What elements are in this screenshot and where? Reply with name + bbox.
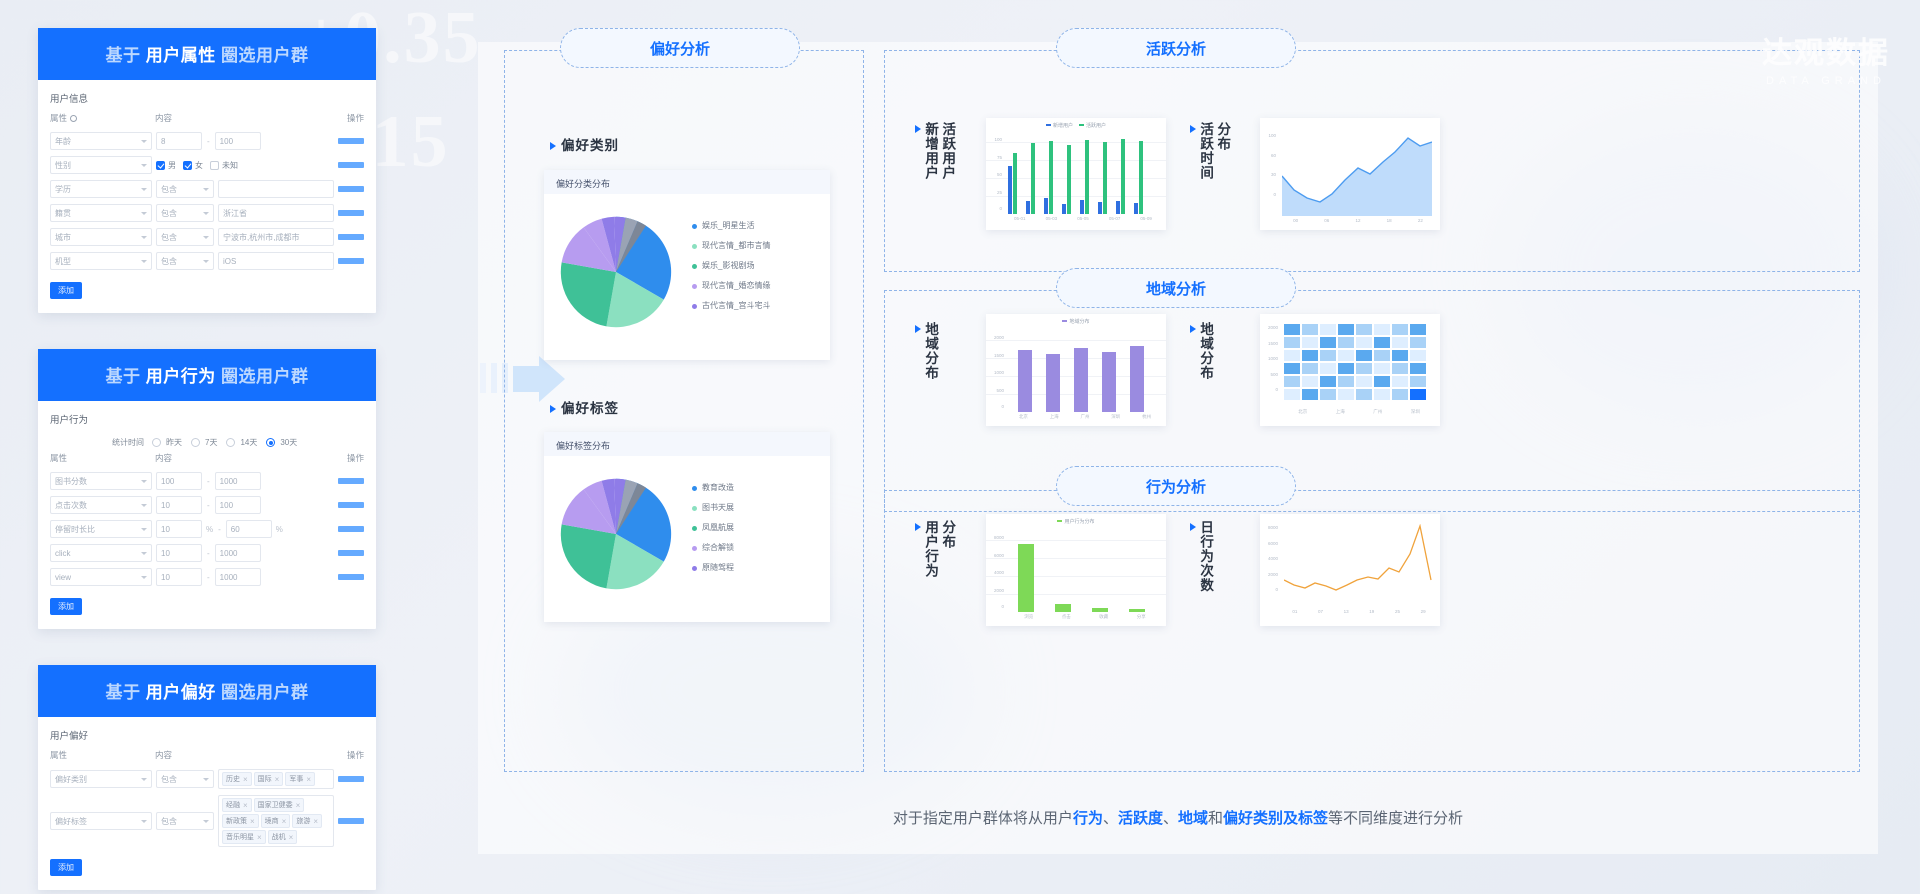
chart-title: 偏好分类分布 [544,170,830,194]
table-row[interactable]: click 10 - 1000 [50,541,364,565]
label-behavior-distribution: 分布 [940,520,955,549]
card-1-title-prefix: 基于 [106,46,141,65]
card-user-behavior: 基于 用户行为 圈选用户群 用户行为 统计时间 昨天 7天 14天 30天 属性… [38,349,376,629]
range-to-input[interactable]: 1000 [215,568,261,586]
triangle-right-icon [1190,523,1196,531]
chart-mini-legend: 地域分布 [986,318,1166,325]
range-to-input[interactable]: 1000 [215,544,261,562]
period-30d-radio[interactable] [266,438,275,447]
chart-card-behavior-bar[interactable]: 用户行为分布 80006000400020000 浏览 点击 收藏 分享 [986,514,1166,626]
attr-select[interactable]: 偏好标签 [50,812,152,830]
row-action-button[interactable] [338,138,364,144]
table-row[interactable]: 学历 包含 [50,177,364,201]
row-action-button[interactable] [338,776,364,782]
gender-female-label: 女 [195,160,203,171]
behavior-analysis-label: 行为分析 [1146,476,1206,497]
region-distribution-label-2[interactable]: 地域分布 [1190,322,1258,380]
stat-period-label: 统计时间 [112,437,144,448]
x-axis-labels: 浏览 点击 收藏 分享 [1010,614,1160,620]
attr-select[interactable]: 籍贯 [50,204,152,222]
bar-chart-behavior [1010,534,1158,612]
region-distribution-label-1[interactable]: 地域分布 [915,322,983,380]
stat-period-row: 统计时间 昨天 7天 14天 30天 [50,433,364,452]
x-axis-labels: 05-01 05-03 05-05 05-07 05-09 [1004,216,1162,221]
table-row[interactable]: 图书分数 100 - 1000 [50,469,364,493]
gender-unknown-label: 未知 [222,160,238,171]
tag-box[interactable]: 经融 国家卫健委 新政策 境商 旅游 音乐明星 战机 [218,795,334,847]
tag-item[interactable]: 战机 [268,830,298,844]
triangle-right-icon [1190,325,1196,333]
pie-chart-2 [556,474,676,594]
row-action-button[interactable] [338,478,364,484]
legend-item: 现代言情_都市言情 [692,236,770,256]
pie-chart-1 [556,212,676,332]
row-action-button[interactable] [338,162,364,168]
analysis-panel: 偏好分析 偏好类别 偏好分类分布 [478,42,1878,854]
card-2-title-suffix: 圈选用户群 [221,367,309,386]
legend-item: 现代言情_婚恋情缘 [692,276,770,296]
card-1-header: 基于 用户属性 圈选用户群 [38,28,376,80]
legend-item: 原随驾程 [692,558,734,578]
preference-tag-label[interactable]: 偏好标签 [550,397,619,417]
left-card-column: 基于 用户属性 圈选用户群 用户信息 属性 内容 操作 年龄 8 - 100 性… [38,28,376,894]
operator-select[interactable]: 包含 [156,770,214,788]
label-distribution: 分布 [1215,122,1230,151]
attr-select[interactable]: click [50,544,152,562]
card-2-header: 基于 用户行为 圈选用户群 [38,349,376,401]
operator-select[interactable]: 包含 [156,180,214,198]
table-row[interactable]: 偏好类别 包含 历史 国际 军事 [50,766,364,792]
card-1-col-op: 操作 [330,112,364,124]
y-axis-labels: 10060300 [1262,134,1276,197]
region-analysis-label: 地域分析 [1146,278,1206,299]
range-to-input[interactable]: 100 [215,132,261,150]
period-30d-label: 30天 [280,437,297,448]
range-from-input[interactable]: 100 [156,472,202,490]
brand-logo: 达观数据 DATA GRAND [1762,28,1890,87]
bar-chart-region [1010,334,1158,412]
preference-analysis-pill[interactable]: 偏好分析 [560,28,800,68]
attr-select[interactable]: 停留时长比 [50,520,152,538]
period-14d-label: 14天 [240,437,257,448]
triangle-right-icon [915,125,921,133]
line-chart-daily-behavior [1284,524,1432,604]
table-row[interactable]: view 10 - 1000 [50,565,364,589]
attr-select[interactable]: 年龄 [50,132,152,150]
row-action-button[interactable] [338,550,364,556]
tag-item[interactable]: 新政策 [222,814,259,828]
tag-item[interactable]: 旅游 [292,814,322,828]
triangle-right-icon [550,142,556,150]
card-2-title-prefix: 基于 [106,367,141,386]
row-action-button[interactable] [338,502,364,508]
preference-category-label[interactable]: 偏好类别 [550,134,619,154]
range-from-input[interactable]: 10 [156,544,202,562]
tag-item[interactable]: 历史 [222,772,252,786]
value-input[interactable] [218,180,334,198]
y-axis-labels: 2000150010005000 [1262,326,1278,393]
card-3-title-suffix: 圈选用户群 [221,683,309,702]
attr-select[interactable]: 性别 [50,156,152,174]
label-new-users: 新增用户 [923,122,938,180]
row-action-button[interactable] [338,818,364,824]
area-chart-active-time [1282,132,1432,216]
legend-item: 教育改造 [692,478,734,498]
chart-card-preference-category[interactable]: 偏好分类分布 娱乐_明星生活 现代言情_都市言情 娱乐_影视剧场 [544,170,830,360]
chart-title: 偏好标签分布 [544,432,830,456]
row-action-button[interactable] [338,210,364,216]
card-1-column-headers: 属性 内容 操作 [50,112,364,129]
table-row[interactable]: 偏好标签 包含 经融 国家卫健委 新政策 境商 旅游 音乐明星 战机 [50,792,364,850]
chart-card-region-bar[interactable]: 地域分布 2000150010005000 北京 上海 广州 深圳 杭州 [986,314,1166,426]
triangle-right-icon [915,325,921,333]
card-1-col-attr: 属性 [50,113,67,123]
row-action-button[interactable] [338,258,364,264]
attr-select[interactable]: view [50,568,152,586]
card-1-title-suffix: 圈选用户群 [221,46,309,65]
label-active-time: 活跃时间 [1198,122,1213,180]
gender-male-checkbox[interactable] [156,161,165,170]
label-active-users: 活跃用户 [940,122,955,180]
card-2-col-content: 内容 [155,452,330,464]
period-14d-radio[interactable] [226,438,235,447]
gender-male-label: 男 [168,160,176,171]
panel-caption: 对于指定用户群体将从用户行为、活跃度、地域和偏好类别及标签等不同维度进行分析 [478,807,1878,828]
bar-chart-new-active [1006,136,1158,214]
tag-item[interactable]: 军事 [285,772,315,786]
value-input[interactable]: iOS [218,252,334,270]
table-row[interactable]: 点击次数 10 - 100 [50,493,364,517]
legend-item: 古代言情_宫斗宅斗 [692,296,770,316]
heatmap-region [1284,324,1432,404]
period-7d-label: 7天 [205,437,217,448]
card-user-attributes: 基于 用户属性 圈选用户群 用户信息 属性 内容 操作 年龄 8 - 100 性… [38,28,376,313]
card-2-col-attr: 属性 [50,452,155,464]
chart-card-new-active-users[interactable]: 新增用户 活跃用户 1007550250 [986,118,1166,230]
tag-item[interactable]: 国家卫健委 [254,798,305,812]
value-input[interactable]: 浙江省 [218,204,334,222]
attr-select[interactable]: 偏好类别 [50,770,152,788]
logo-en: DATA GRAND [1762,75,1890,87]
operator-select[interactable]: 包含 [156,228,214,246]
row-action-button[interactable] [338,574,364,580]
range-to-input[interactable]: 60 [226,520,272,538]
add-row-button[interactable]: 添加 [50,859,82,876]
percent-unit-2: % [276,525,283,534]
label-user-behavior: 用户行为 [923,520,938,578]
x-axis-labels: 北京 上海 广州 深圳 杭州 [1008,414,1162,420]
tag-item[interactable]: 境商 [261,814,291,828]
row-action-button[interactable] [338,234,364,240]
chart-card-active-time[interactable]: 10060300 00 06 12 18 22 [1260,118,1440,230]
range-from-input[interactable]: 10 [156,496,202,514]
card-1-title-emphasis: 用户属性 [146,46,216,65]
table-row[interactable]: 性别 男 女 未知 [50,153,364,177]
gender-unknown-checkbox[interactable] [210,161,219,170]
chart-mini-legend: 新增用户 活跃用户 [986,122,1166,129]
triangle-right-icon [550,405,556,413]
add-row-button[interactable]: 添加 [50,282,82,299]
pie-legend-2: 教育改造 图书天展 凤凰航展 综合解锁 原随驾程 [692,478,734,578]
legend-item: 综合解锁 [692,538,734,558]
card-3-column-headers: 属性 内容 操作 [50,749,364,766]
preference-tag-text: 偏好标签 [561,397,619,417]
attr-select[interactable]: 机型 [50,252,152,270]
card-3-title-emphasis: 用户偏好 [146,683,216,702]
legend-item: 凤凰航展 [692,518,734,538]
period-7d-radio[interactable] [191,438,200,447]
chart-mini-legend: 用户行为分布 [986,518,1166,525]
attr-select[interactable]: 图书分数 [50,472,152,490]
period-yesterday-label: 昨天 [166,437,182,448]
y-axis-labels: 2000150010005000 [988,336,1004,410]
x-axis-labels: 00 06 12 18 22 [1280,218,1436,223]
range-to-input[interactable]: 1000 [215,472,261,490]
card-3-header: 基于 用户偏好 圈选用户群 [38,665,376,717]
table-row[interactable]: 籍贯 包含 浙江省 [50,201,364,225]
clock-icon [70,115,77,122]
range-from-input[interactable]: 8 [156,132,202,150]
card-2-title-emphasis: 用户行为 [146,367,216,386]
label-region-distribution-1: 地域分布 [923,322,938,380]
legend-item: 娱乐_明星生活 [692,216,770,236]
table-row[interactable]: 年龄 8 - 100 [50,129,364,153]
preference-category-text: 偏好类别 [561,134,619,154]
behavior-analysis-pill[interactable]: 行为分析 [1056,466,1296,506]
row-action-button[interactable] [338,186,364,192]
card-3-section-title: 用户偏好 [50,728,364,742]
range-from-input[interactable]: 10 [156,568,202,586]
activity-analysis-label: 活跃分析 [1146,38,1206,59]
x-axis-labels: 01 07 13 19 25 29 [1282,609,1436,614]
card-2-section-title: 用户行为 [50,412,364,426]
card-1-section-title: 用户信息 [50,91,364,105]
y-axis-labels: 80006000400020000 [1262,526,1278,593]
table-row[interactable]: 城市 包含 宁波市,杭州市,成都市 [50,225,364,249]
attr-select[interactable]: 点击次数 [50,496,152,514]
percent-unit-1: % [206,525,213,534]
card-3-col-attr: 属性 [50,749,155,761]
card-3-col-content: 内容 [155,749,330,761]
card-2-col-op: 操作 [330,452,364,464]
pie-legend-1: 娱乐_明星生活 现代言情_都市言情 娱乐_影视剧场 现代言情_婚恋情缘 古代言情… [692,216,770,316]
period-yesterday-radio[interactable] [152,438,161,447]
label-region-distribution-2: 地域分布 [1198,322,1213,380]
range-to-input[interactable]: 100 [215,496,261,514]
triangle-right-icon [1190,125,1196,133]
operator-select[interactable]: 包含 [156,252,214,270]
value-input[interactable]: 宁波市,杭州市,成都市 [218,228,334,246]
chart-card-region-heatmap[interactable]: 2000150010005000 [1260,314,1440,426]
table-row[interactable]: 停留时长比 10 % - 60 % [50,517,364,541]
row-action-button[interactable] [338,526,364,532]
operator-select[interactable]: 包含 [156,204,214,222]
chart-card-daily-behavior[interactable]: 80006000400020000 01 07 13 19 25 29 [1260,514,1440,626]
attr-select[interactable]: 学历 [50,180,152,198]
region-analysis-pill[interactable]: 地域分析 [1056,268,1296,308]
label-daily-behavior-count: 日行为次数 [1198,520,1213,593]
operator-select[interactable]: 包含 [156,812,214,830]
card-3-title-prefix: 基于 [106,683,141,702]
legend-item: 图书天展 [692,498,734,518]
activity-analysis-pill[interactable]: 活跃分析 [1056,28,1296,68]
attr-select[interactable]: 城市 [50,228,152,246]
card-1-col-content: 内容 [155,112,330,124]
preference-analysis-label: 偏好分析 [650,38,710,59]
tag-box[interactable]: 历史 国际 军事 [218,769,334,789]
add-row-button[interactable]: 添加 [50,598,82,615]
tag-item[interactable]: 国际 [254,772,284,786]
card-user-preference: 基于 用户偏好 圈选用户群 用户偏好 属性 内容 操作 偏好类别 包含 历史 国… [38,665,376,890]
table-row[interactable]: 机型 包含 iOS [50,249,364,273]
card-3-col-op: 操作 [330,749,364,761]
gender-female-checkbox[interactable] [183,161,192,170]
chart-card-preference-tag[interactable]: 偏好标签分布 教育改造 图书天展 凤凰航展 综合解 [544,432,830,622]
tag-item[interactable]: 音乐明星 [222,830,266,844]
legend-item: 娱乐_影视剧场 [692,256,770,276]
y-axis-labels: 1007550250 [988,138,1002,212]
y-axis-labels: 80006000400020000 [988,536,1004,610]
card-2-column-headers: 属性 内容 操作 [50,452,364,469]
logo-cn: 达观数据 [1762,28,1890,72]
x-axis-labels: 北京 上海 广州 深圳 [1284,409,1434,415]
triangle-right-icon [915,523,921,531]
range-from-input[interactable]: 10 [156,520,202,538]
tag-item[interactable]: 经融 [222,798,252,812]
